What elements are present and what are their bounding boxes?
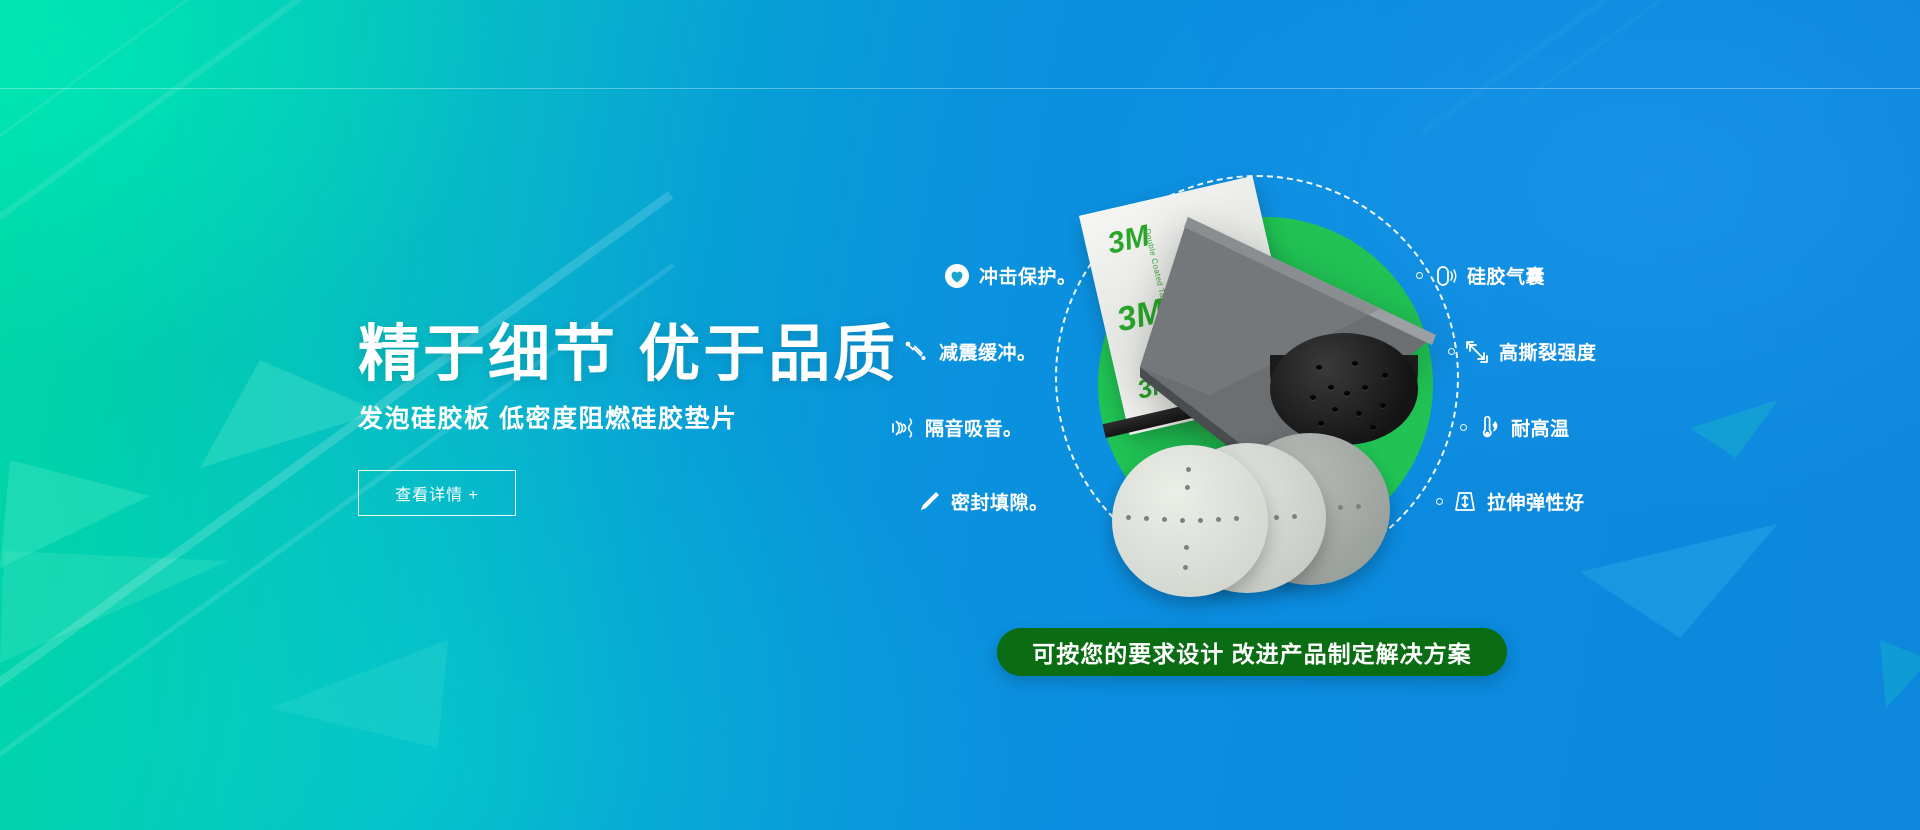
feature-item-shock-absorption[interactable]: 减震缓冲。: [904, 338, 1037, 365]
tear-strength-arrows-icon: [1464, 339, 1490, 365]
connector-dot: [1460, 424, 1467, 431]
connector-dot: [1448, 348, 1455, 355]
feature-item-impact-protection[interactable]: 冲击保护。: [944, 262, 1077, 289]
decor-triangle-1: [200, 360, 380, 470]
feature-item-silicone-airbag[interactable]: 硅胶气囊: [1416, 262, 1545, 289]
feature-label: 冲击保护。: [979, 262, 1077, 289]
feature-item-tear-strength[interactable]: 高撕裂强度: [1448, 338, 1597, 365]
airbag-capsule-icon: [1432, 263, 1458, 289]
shield-heart-icon: [944, 263, 970, 289]
feature-label: 减震缓冲。: [939, 338, 1037, 365]
feature-label: 密封填隙。: [951, 488, 1049, 515]
feature-label: 拉伸弹性好: [1487, 488, 1585, 515]
view-details-button[interactable]: 查看详情 +: [358, 470, 516, 516]
feature-label: 硅胶气囊: [1467, 262, 1545, 289]
connector-dot: [1416, 272, 1423, 279]
hero-banner: 精于细节 优于品质 发泡硅胶板 低密度阻燃硅胶垫片 查看详情 + 3M 3M 3…: [0, 0, 1920, 830]
decor-triangle-6: [1880, 640, 1920, 710]
thermometer-flame-icon: [1476, 415, 1502, 441]
feature-label: 耐高温: [1511, 414, 1570, 441]
sound-wave-icon: [890, 415, 916, 441]
shock-absorber-icon: [904, 339, 930, 365]
decor-triangle-5: [1580, 520, 1780, 640]
stretch-arrow-icon: [1452, 489, 1478, 515]
solution-banner[interactable]: 可按您的要求设计 改进产品制定解决方案: [997, 628, 1507, 676]
feature-label: 隔音吸音。: [925, 414, 1023, 441]
decor-triangle-7: [1690, 400, 1780, 460]
decor-triangle-4: [270, 640, 450, 750]
feature-item-gap-sealing[interactable]: 密封填隙。: [916, 488, 1049, 515]
sealant-pen-icon: [916, 489, 942, 515]
feature-item-heat-resistant[interactable]: 耐高温: [1460, 414, 1570, 441]
connector-dot: [1436, 498, 1443, 505]
grey-disc-front: [1112, 445, 1268, 597]
background-hairline: [0, 88, 1920, 89]
feature-item-tensile-elasticity[interactable]: 拉伸弹性好: [1436, 488, 1585, 515]
product-illustration: 3M 3M 3M Double Coated Tape Industrial A…: [1020, 155, 1490, 625]
feature-label: 高撕裂强度: [1499, 338, 1597, 365]
feature-item-sound-insulation[interactable]: 隔音吸音。: [890, 414, 1023, 441]
